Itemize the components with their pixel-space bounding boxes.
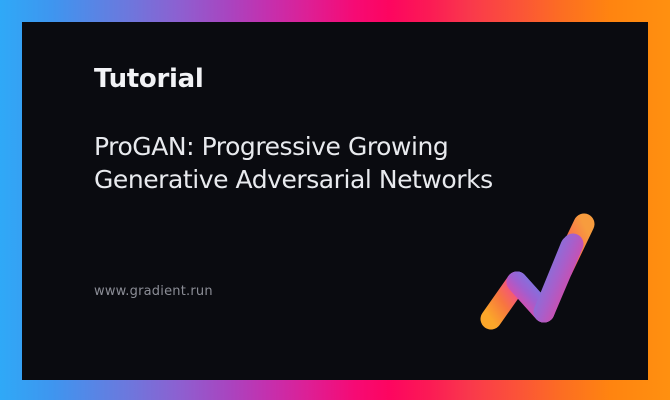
website-url: www.gradient.run (94, 285, 213, 298)
card-inner-panel: Tutorial ProGAN: Progressive Growing Gen… (22, 22, 648, 380)
card-text-block: Tutorial ProGAN: Progressive Growing Gen… (94, 22, 524, 380)
eyebrow-label: Tutorial (94, 66, 203, 92)
tutorial-card: Tutorial ProGAN: Progressive Growing Gen… (0, 0, 670, 400)
title-line-2: Generative Adversarial Networks (94, 163, 534, 196)
page-title: ProGAN: Progressive Growing Generative A… (94, 130, 534, 196)
title-line-1: ProGAN: Progressive Growing (94, 130, 534, 163)
